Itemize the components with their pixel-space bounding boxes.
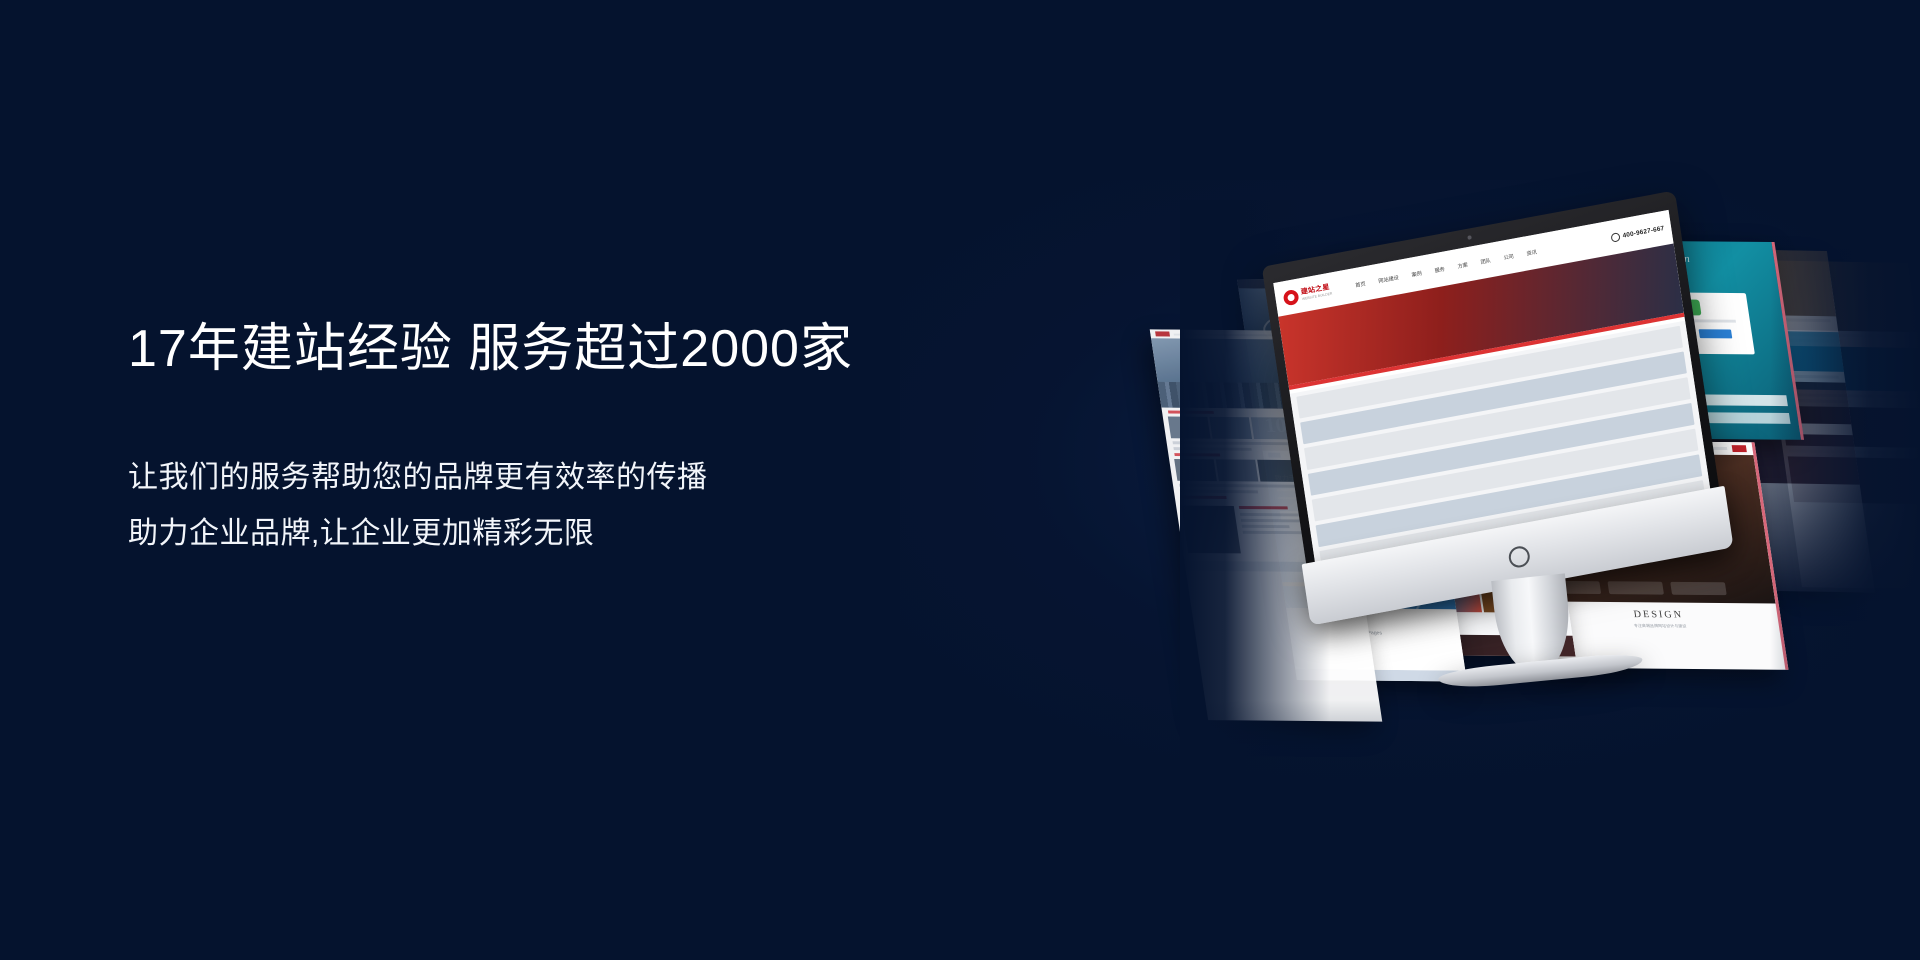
circle-swirl-logo-icon — [1283, 288, 1300, 306]
nav-item-4[interactable]: 方案 — [1457, 261, 1468, 270]
webcam-dot-icon — [1467, 235, 1472, 240]
monitor-device: 建站之星 WEBSITE BUILDER 首页 网站建设 案例 服务 方案 团队… — [1300, 225, 1860, 805]
site-phone: 400-9627-667 — [1610, 223, 1665, 242]
hero-subtitle: 让我们的服务帮助您的品牌更有效率的传播 助力企业品牌,让企业更加精彩无限 — [128, 450, 948, 562]
nav-item-2[interactable]: 案例 — [1411, 269, 1422, 278]
nav-item-0[interactable]: 首页 — [1355, 280, 1366, 289]
nav-item-3[interactable]: 服务 — [1434, 265, 1445, 274]
ring-logo-icon — [1507, 545, 1531, 570]
nav-item-1[interactable]: 网站建设 — [1378, 274, 1399, 285]
site-phone-number: 400-9627-667 — [1622, 224, 1665, 239]
hero-banner: 17年建站经验 服务超过2000家 让我们的服务帮助您的品牌更有效率的传播 助力… — [0, 0, 1920, 960]
page-title: 17年建站经验 服务超过2000家 — [128, 318, 948, 380]
nav-item-5[interactable]: 团队 — [1480, 257, 1491, 266]
nav-item-7[interactable]: 资讯 — [1526, 248, 1537, 257]
phone-icon — [1610, 232, 1620, 243]
nav-item-6[interactable]: 公司 — [1503, 252, 1514, 261]
subtitle-line-2: 助力企业品牌,让企业更加精彩无限 — [128, 506, 948, 562]
hero-copy: 17年建站经验 服务超过2000家 让我们的服务帮助您的品牌更有效率的传播 助力… — [128, 318, 948, 562]
subtitle-line-1: 让我们的服务帮助您的品牌更有效率的传播 — [128, 450, 948, 506]
site-logo[interactable]: 建站之星 WEBSITE BUILDER — [1283, 282, 1333, 306]
